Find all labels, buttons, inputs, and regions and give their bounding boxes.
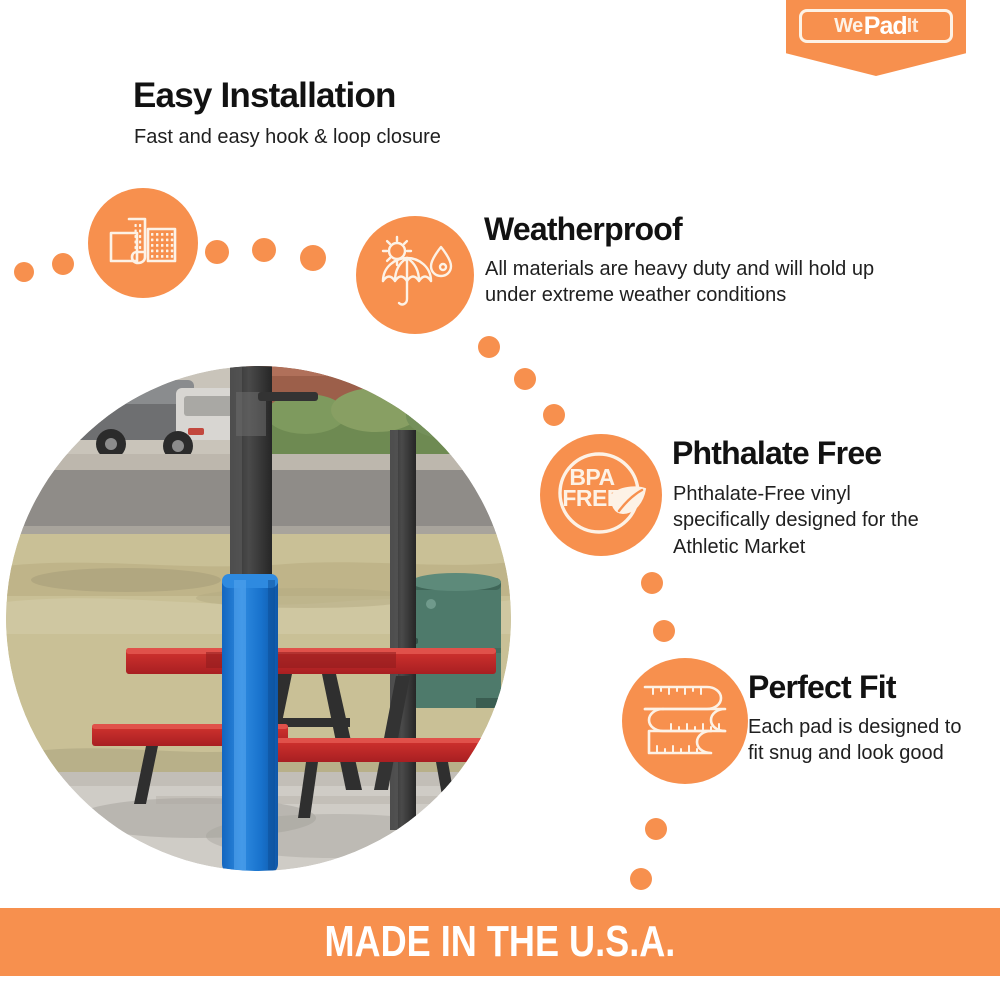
- hook-and-loop-icon: [107, 211, 179, 276]
- product-photo-padded-post: [6, 366, 511, 871]
- feature-title-phthalate-free: Phthalate Free: [672, 437, 881, 471]
- bpa-free-leaf-icon: BPA FREE: [549, 443, 653, 547]
- trail-dot: [645, 818, 667, 840]
- feature-description-easy-installation: Fast and easy hook & loop closure: [134, 124, 441, 150]
- trail-dot: [630, 868, 652, 890]
- trail-dot: [252, 238, 276, 262]
- trail-dot: [478, 336, 500, 358]
- feature-title-weatherproof: Weatherproof: [484, 213, 682, 247]
- logo-text-it: It: [907, 16, 918, 36]
- feature-icon-circle-perfect-fit: [622, 658, 748, 784]
- feature-description-weatherproof: All materials are heavy duty and will ho…: [485, 256, 905, 309]
- feature-title-easy-installation: Easy Installation: [133, 78, 396, 115]
- brand-logo: We Pad It: [786, 0, 966, 76]
- trail-dot: [52, 253, 74, 275]
- feature-icon-circle-phthalate-free: BPA FREE: [540, 434, 662, 556]
- measuring-tape-icon: [637, 671, 733, 772]
- logo-wordmark: We Pad It: [799, 9, 953, 43]
- sun-umbrella-raindrop-icon: [373, 233, 457, 318]
- logo-text-we: We: [834, 16, 863, 36]
- feature-icon-circle-easy-installation: [88, 188, 198, 298]
- feature-icon-circle-weatherproof: [356, 216, 474, 334]
- feature-description-perfect-fit: Each pad is designed to fit snug and loo…: [748, 714, 978, 767]
- trail-dot: [543, 404, 565, 426]
- trail-dot: [205, 240, 229, 264]
- trail-dot: [514, 368, 536, 390]
- feature-description-phthalate-free: Phthalate-Free vinyl specifically design…: [673, 481, 943, 560]
- trail-dot: [14, 262, 34, 282]
- made-in-usa-text: MADE IN THE U.S.A.: [325, 917, 676, 967]
- trail-dot: [641, 572, 663, 594]
- feature-title-perfect-fit: Perfect Fit: [748, 671, 896, 705]
- infographic-page: We Pad It Easy Installation Fast and eas…: [0, 0, 1000, 987]
- made-in-usa-banner: MADE IN THE U.S.A.: [0, 908, 1000, 976]
- trail-dot: [300, 245, 326, 271]
- trail-dot: [653, 620, 675, 642]
- logo-text-pad: Pad: [864, 14, 907, 39]
- bpa-icon-text-line2: FREE: [549, 488, 635, 509]
